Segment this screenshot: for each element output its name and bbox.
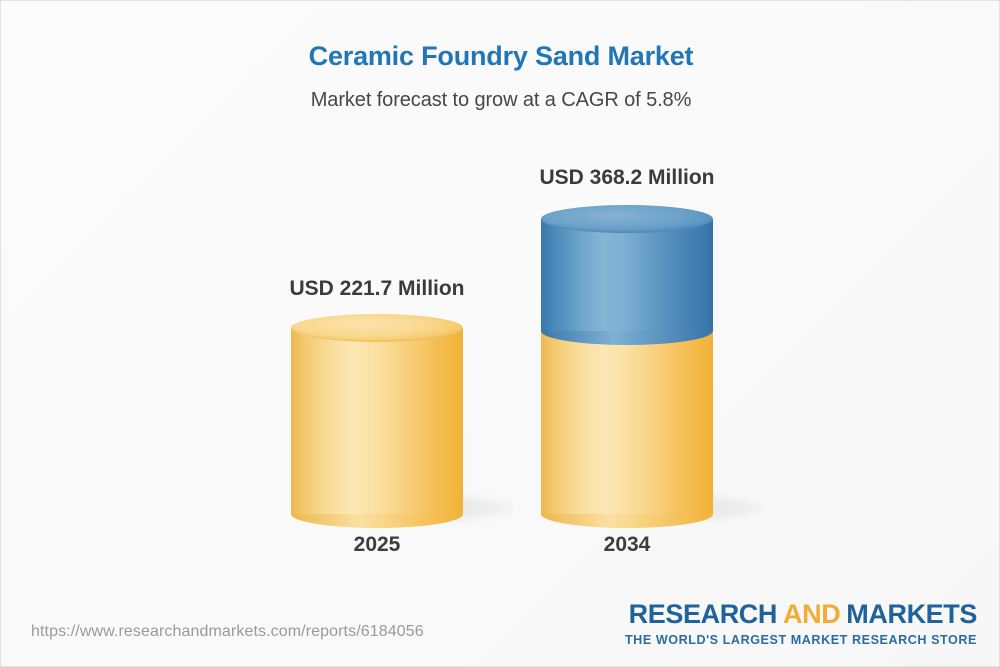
bar-category-label-2034: 2034 <box>447 533 807 557</box>
bar-cylinder-body-upper-2034 <box>541 219 713 331</box>
bar-value-label-2025: USD 221.7 Million <box>197 277 557 301</box>
bar-cylinder-top-2025 <box>291 314 463 342</box>
logo-tagline: THE WORLD'S LARGEST MARKET RESEARCH STOR… <box>625 633 977 647</box>
bar-cylinder-body-lower-2034 <box>541 331 713 514</box>
bar-cylinder-body-2025 <box>291 328 463 514</box>
logo-word-markets: MARKETS <box>846 599 977 629</box>
bar-cylinder-top-2034 <box>541 205 713 233</box>
research-and-markets-logo[interactable]: RESEARCHANDMARKETS THE WORLD'S LARGEST M… <box>625 601 977 647</box>
logo-word-research: RESEARCH <box>629 599 777 629</box>
chart-subtitle: Market forecast to grow at a CAGR of 5.8… <box>1 89 1000 112</box>
page-title: Ceramic Foundry Sand Market <box>1 41 1000 72</box>
logo-word-and: AND <box>783 599 840 629</box>
bar-value-label-2034: USD 368.2 Million <box>447 166 807 190</box>
logo-wordmark: RESEARCHANDMARKETS <box>625 601 977 628</box>
chart-canvas: Ceramic Foundry Sand Market Market forec… <box>0 0 1000 667</box>
source-url[interactable]: https://www.researchandmarkets.com/repor… <box>31 623 424 641</box>
